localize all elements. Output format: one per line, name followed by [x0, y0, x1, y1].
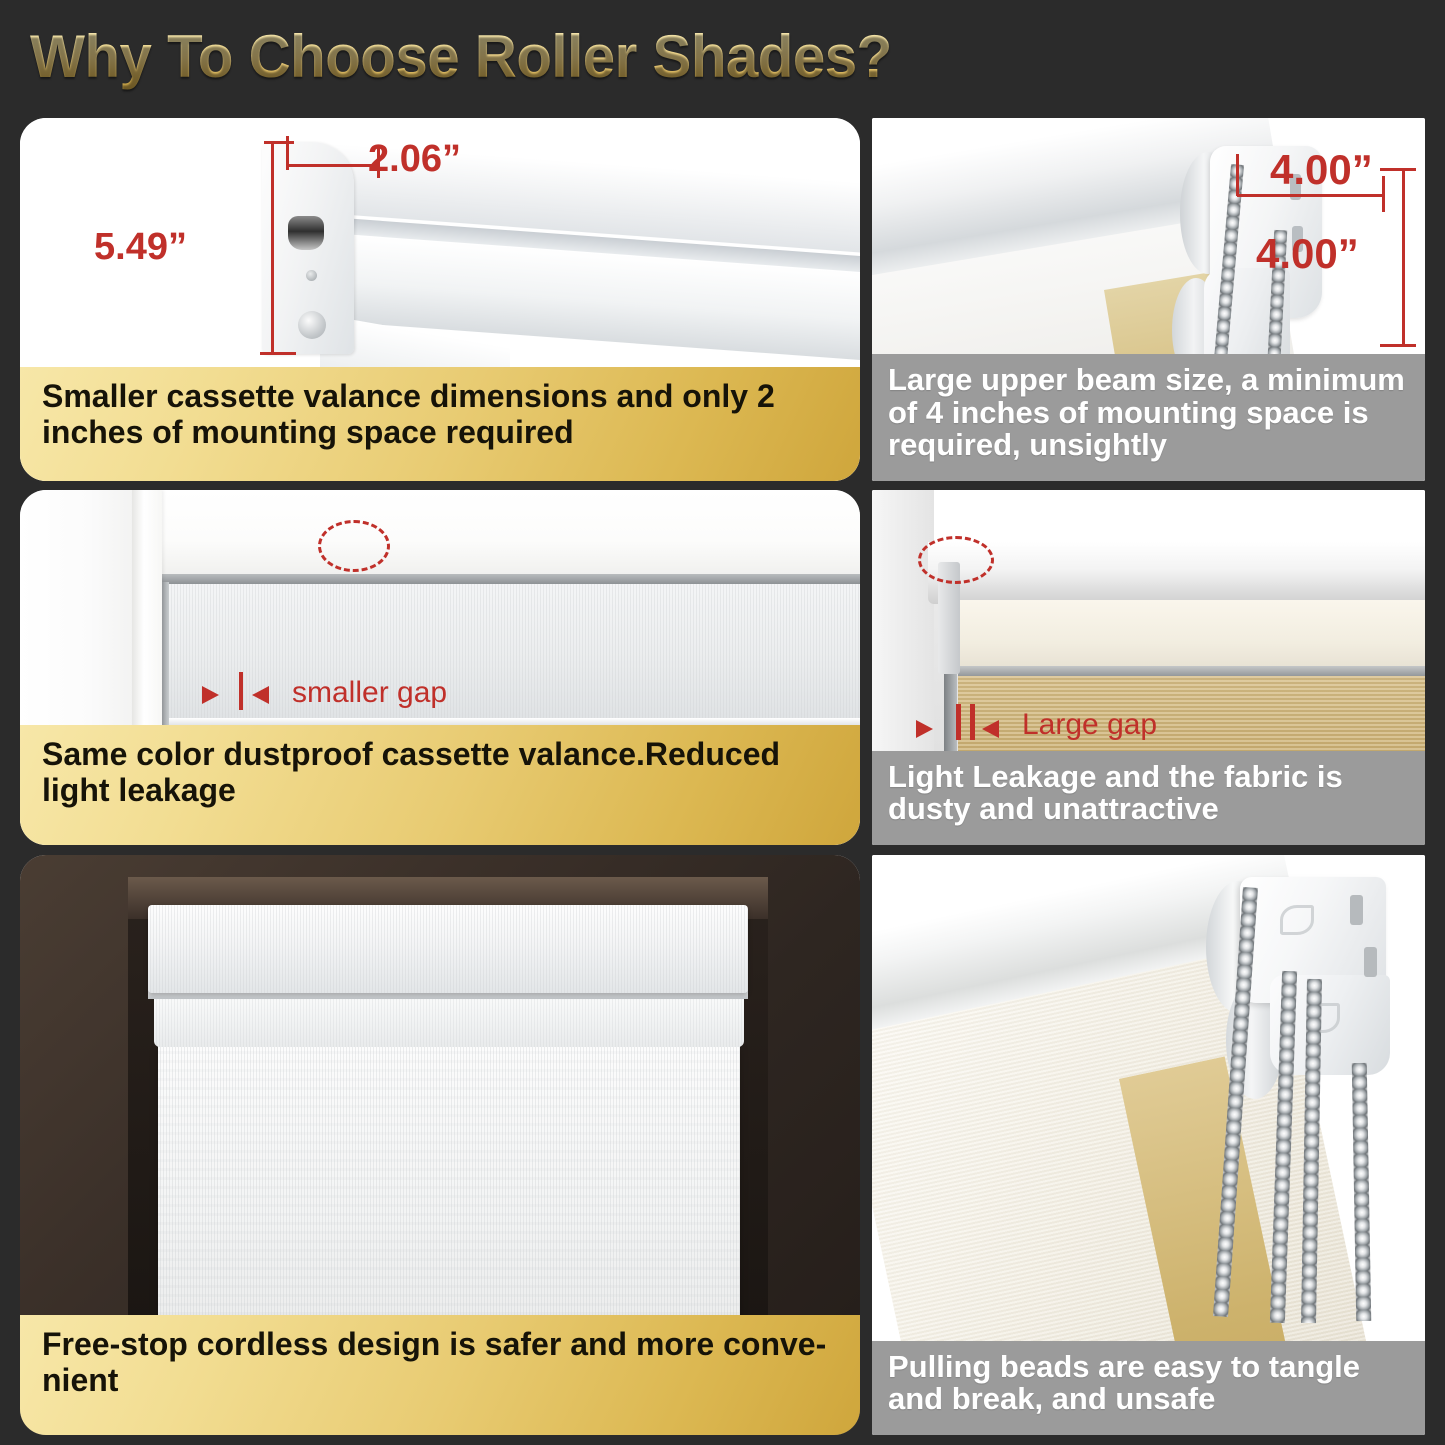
panel-caption-good: Same color dustproof cassette valance.Re… — [20, 725, 860, 845]
panel-dustproof-cassette: smaller gap Same color dustproof cassett… — [20, 490, 860, 845]
panel-light-leakage: Large gap Light Leakage and the fabric i… — [872, 490, 1425, 845]
gap-arrow-left — [916, 720, 933, 738]
highlight-ellipse-gap — [318, 520, 390, 572]
gap-arrow-right — [982, 720, 999, 738]
gap-arrow-right — [252, 686, 269, 704]
panel-caption-bad: Pulling beads are easy to tangle and bre… — [872, 1341, 1425, 1435]
dimension-label-width: 4.00” — [1270, 146, 1373, 194]
dimension-tick-bottom — [260, 352, 296, 355]
panel-large-upper-beam: 4.00” 4.00” Large upper beam size, a min… — [872, 118, 1425, 481]
gap-marker — [239, 672, 243, 710]
dimension-line-width — [1237, 194, 1385, 197]
dimension-line-width — [288, 164, 380, 167]
dimension-line-height — [1402, 170, 1405, 346]
dimension-label-height: 5.49” — [94, 226, 187, 269]
dimension-label-width: 2.06” — [368, 138, 461, 181]
cassette-valance — [148, 905, 748, 993]
gap-label-large: Large gap — [1022, 708, 1157, 742]
dimension-tick-top — [1380, 168, 1416, 171]
page-header: Why To Choose Roller Shades? — [0, 0, 1445, 112]
panel-caption-good: Free-stop cordless design is safer and m… — [20, 1315, 860, 1435]
dimension-tick-right — [1382, 176, 1385, 212]
panel-cassette-valance-dimensions: 2.06” 5.49” Smaller cassette valance dim… — [20, 118, 860, 481]
roller-shade-fabric — [158, 1045, 740, 1355]
gap-arrow-left — [202, 686, 219, 704]
panel-caption-bad: Light Leakage and the fabric is dusty an… — [872, 751, 1425, 845]
highlight-ellipse-gap — [918, 536, 994, 584]
comparison-grid: 2.06” 5.49” Smaller cassette valance dim… — [0, 112, 1445, 1445]
dimension-label-height: 4.00” — [1256, 230, 1359, 278]
dimension-tick-top — [264, 141, 294, 144]
panel-pulling-beads: Pulling beads are easy to tangle and bre… — [872, 855, 1425, 1435]
panel-caption-bad: Large upper beam size, a minimum of 4 in… — [872, 354, 1425, 481]
page-title: Why To Choose Roller Shades? — [30, 22, 892, 91]
dimension-tick-bottom — [1380, 344, 1416, 347]
gap-marker-a — [956, 704, 961, 740]
dimension-line-height — [271, 142, 274, 354]
panel-free-stop-cordless: Free-stop cordless design is safer and m… — [20, 855, 860, 1435]
gap-label-smaller: smaller gap — [292, 676, 447, 710]
gap-marker-b — [970, 704, 975, 740]
dimension-tick-left — [1236, 154, 1239, 196]
panel-caption-good: Smaller cassette valance dimensions and … — [20, 367, 860, 481]
